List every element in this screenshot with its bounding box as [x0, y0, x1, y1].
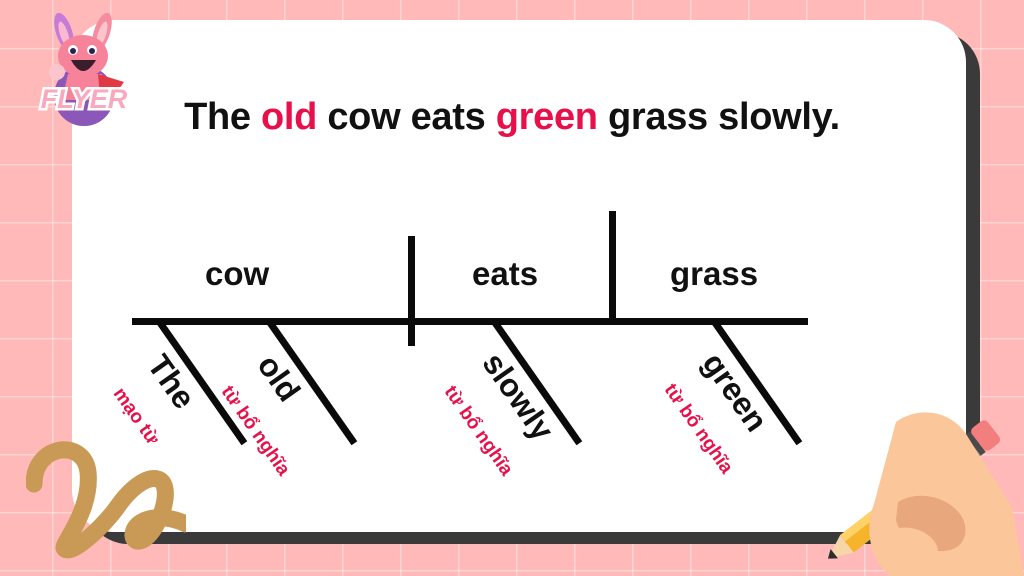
diagram-baseline [132, 318, 808, 325]
subject-verb-divider [408, 236, 415, 346]
diagram-word-object: grass [670, 255, 758, 293]
verb-object-divider [609, 211, 616, 322]
logo-wordmark-text: FLYER [41, 84, 128, 114]
gold-squiggle-icon [26, 418, 186, 568]
flyer-logo[interactable]: FLYER [24, 8, 144, 126]
modifier-word-the: The [140, 348, 203, 416]
diagram-word-subject: cow [205, 255, 269, 293]
hand-with-pencil-icon [800, 380, 1024, 576]
diagram-word-verb: eats [472, 255, 538, 293]
logo-wordmark: FLYER [41, 84, 128, 114]
